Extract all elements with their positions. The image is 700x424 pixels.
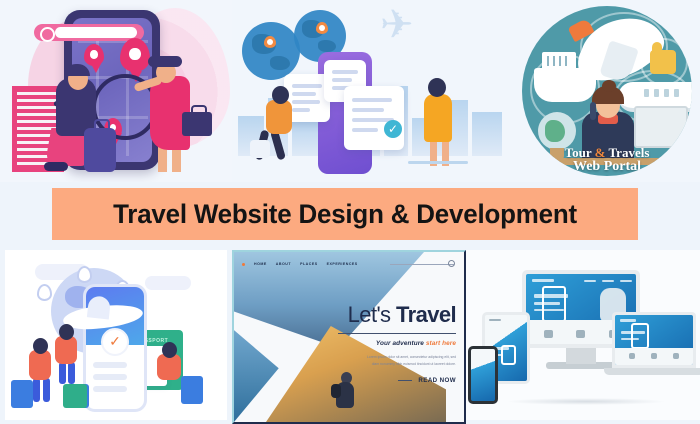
headset-icon <box>590 102 596 120</box>
monitor-icon <box>576 330 585 338</box>
traveler-man-torso <box>55 336 77 364</box>
mockup-nav[interactable]: HOME ABOUT PLACES EXPERIENCES <box>242 262 358 266</box>
nav-item-home[interactable]: HOME <box>254 262 267 266</box>
map-pin-icon <box>264 36 276 48</box>
traveler-woman-body <box>424 94 452 142</box>
traveler-man-head <box>272 86 289 104</box>
monitor-icon <box>651 353 657 359</box>
map-pin-icon <box>84 44 104 66</box>
globe-icon <box>242 22 300 80</box>
map-pin-icon <box>37 284 52 301</box>
gear-icon <box>673 353 679 359</box>
airplane-icon: ✈ <box>380 8 426 42</box>
rocket-icon <box>544 330 553 338</box>
hero-subheading-accent: start here <box>426 340 456 347</box>
cta-dash <box>398 380 412 381</box>
suitcase-icon <box>84 128 116 172</box>
seated-traveler-head <box>162 342 177 358</box>
suitcase-icon <box>63 384 87 408</box>
agent-hair-bun <box>602 80 616 92</box>
traveler-man-torso <box>266 100 292 134</box>
traveler-woman-head <box>428 78 446 97</box>
desktop-monitor-icon <box>634 106 688 148</box>
rolling-bag-icon <box>250 140 270 158</box>
divider <box>338 333 456 334</box>
responsive-web-design-devices <box>466 250 700 420</box>
phone-outline-icon <box>631 323 649 349</box>
badge-circle: Tour & Travels Web Portal <box>522 6 692 176</box>
travel-search-illustration <box>0 0 232 182</box>
hero-subheading: Your adventure start here <box>332 340 456 347</box>
suitcase-icon <box>181 376 203 404</box>
read-now-label[interactable]: READ NOW <box>418 377 456 384</box>
traveler-man-head <box>59 324 74 340</box>
mobile-booking-illustration: PASSPORT ✓ <box>5 250 227 420</box>
hero-subheading-dark: Your adventure <box>376 340 424 347</box>
hero-heading-bold: Travel <box>396 302 456 327</box>
smartphone-icon <box>468 346 498 404</box>
thumbs-up-icon <box>650 50 676 74</box>
hero-body-text: Lorem ipsum dolor sit amet, consectetur … <box>332 354 456 368</box>
traveler-woman-torso <box>29 350 51 380</box>
map-pin-icon <box>316 22 328 34</box>
nav-item-experiences[interactable]: EXPERIENCES <box>327 262 358 266</box>
badge-title-line2: Web Portal <box>522 160 692 175</box>
search-input[interactable] <box>390 264 454 265</box>
man-shoe <box>44 162 68 171</box>
phone-outline-icon <box>501 345 516 365</box>
page-title: Travel Website Design & Development <box>64 188 627 240</box>
badge-title: Tour & Travels Web Portal <box>522 146 692 174</box>
lets-travel-landing-page-mockup: HOME ABOUT PLACES EXPERIENCES Let's Trav… <box>232 250 466 424</box>
woman-hat <box>148 56 182 67</box>
read-now-cta[interactable]: READ NOW <box>332 377 456 384</box>
online-booking-illustration: ✈ ✓ <box>232 0 512 182</box>
tour-travels-web-portal-badge: Tour & Travels Web Portal <box>512 0 700 182</box>
nav-item-places[interactable]: PLACES <box>300 262 318 266</box>
search-bar[interactable] <box>34 24 144 41</box>
nav-bullet-icon <box>242 263 245 266</box>
phone-screen <box>471 349 495 401</box>
search-input[interactable] <box>55 27 137 38</box>
laptop-screen <box>615 315 693 365</box>
hero-copy: Let's Travel Your adventure start here L… <box>332 304 456 384</box>
badge-title-line1-part1: Tour <box>565 145 595 160</box>
device-shadow <box>506 398 666 405</box>
phone-outline-icon <box>542 286 566 322</box>
nav-item-about[interactable]: ABOUT <box>276 262 291 266</box>
cruise-ship-icon <box>534 68 596 102</box>
suitcase-icon <box>11 380 33 408</box>
badge-ampersand: & <box>595 145 606 160</box>
hero-heading: Let's Travel <box>332 304 456 326</box>
feature-strip <box>615 348 693 365</box>
checkmark-icon: ✓ <box>384 120 402 138</box>
map-pin-icon <box>120 38 150 72</box>
badge-title-line1-part2: Travels <box>605 145 649 160</box>
ground-line <box>408 161 468 164</box>
rocket-icon <box>629 353 635 359</box>
booking-form-card <box>344 86 404 150</box>
poster-canvas: ✈ ✓ <box>0 0 700 420</box>
hero-photo-collage: HOME ABOUT PLACES EXPERIENCES Let's Trav… <box>234 252 464 422</box>
checkmark-icon: ✓ <box>101 328 129 356</box>
handbag-icon <box>182 112 212 136</box>
hero-body-line1: Lorem ipsum dolor sit amet, consectetur … <box>332 354 456 361</box>
monitor-stand <box>566 348 596 364</box>
hero-heading-light: Let's <box>348 302 391 327</box>
feature-icons <box>621 353 687 359</box>
map-pin-icon <box>77 266 92 283</box>
title-banner: Travel Website Design & Development <box>52 188 638 240</box>
hero-body-line2: diam nonummy nibh euismod tincidunt ut l… <box>332 361 456 368</box>
traveler-woman-head <box>33 338 48 354</box>
laptop-base <box>604 368 700 375</box>
laptop-icon <box>612 312 696 368</box>
search-icon <box>40 27 55 42</box>
